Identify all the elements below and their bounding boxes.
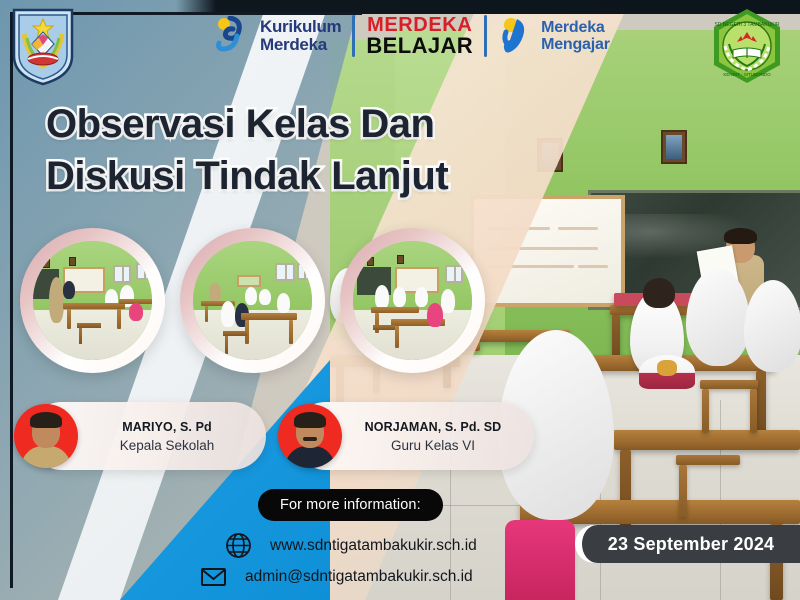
merdeka-mengajar-label: Merdeka Mengajar xyxy=(541,19,610,53)
avatar xyxy=(278,404,342,468)
title-line-1: Observasi Kelas Dan xyxy=(46,98,606,150)
person-card-teacher: NORJAMAN, S. Pd. SD Guru Kelas VI xyxy=(292,402,534,470)
contact-row-website[interactable]: www.sdntigatambakukir.sch.id xyxy=(225,532,477,559)
classroom-photo-circle-3 xyxy=(340,228,485,373)
classroom-photo-circle-1 xyxy=(20,228,165,373)
kurikulum-merdeka-icon xyxy=(215,16,249,56)
logo-divider xyxy=(484,15,487,57)
more-information-chip: For more information: xyxy=(258,489,443,521)
projector-screen xyxy=(470,195,625,307)
svg-text:KENDIT - SITUBONDO: KENDIT - SITUBONDO xyxy=(723,72,771,77)
merdeka-belajar-line2: BELAJAR xyxy=(366,33,473,58)
person-role: Guru Kelas VI xyxy=(348,438,518,453)
logo-divider xyxy=(352,15,355,57)
red-white-cap xyxy=(639,355,695,389)
email-address: admin@sdntigatambakukir.sch.id xyxy=(245,568,473,586)
wall-portrait-icon xyxy=(661,130,687,164)
globe-icon xyxy=(225,532,252,559)
poster-canvas: Kurikulum Merdeka MERDEKA BELAJAR Merdek… xyxy=(0,0,800,600)
avatar xyxy=(14,404,78,468)
date-badge: 23 September 2024 xyxy=(578,525,800,563)
kurikulum-line1: Kurikulum xyxy=(260,17,341,36)
page-title: Observasi Kelas Dan Diskusi Tindak Lanju… xyxy=(46,98,606,202)
person-role: Kepala Sekolah xyxy=(84,438,250,453)
mengajar-line2: Mengajar xyxy=(541,36,610,53)
student-figure xyxy=(744,280,800,372)
svg-text:SD NEGERI 3 TAMBAKUKIR: SD NEGERI 3 TAMBAKUKIR xyxy=(714,22,779,28)
person-card-principal: MARIYO, S. Pd Kepala Sekolah xyxy=(28,402,266,470)
kurikulum-merdeka-label: Kurikulum Merdeka xyxy=(260,18,341,54)
person-name: MARIYO, S. Pd xyxy=(84,420,250,434)
title-line-2: Diskusi Tindak Lanjut xyxy=(46,150,606,202)
school-emblem-logo: SD NEGERI 3 TAMBAKUKIR KENDIT - SITUBOND… xyxy=(709,6,785,86)
website-url: www.sdntigatambakukir.sch.id xyxy=(270,537,477,555)
classroom-photo-circle-2 xyxy=(180,228,325,373)
kurikulum-line2: Merdeka xyxy=(260,35,327,54)
regency-emblem-logo xyxy=(8,4,78,88)
merdeka-mengajar-icon xyxy=(498,16,530,56)
mengajar-line1: Merdeka xyxy=(541,19,605,36)
person-name: NORJAMAN, S. Pd. SD xyxy=(348,420,518,434)
contact-row-email[interactable]: admin@sdntigatambakukir.sch.id xyxy=(200,563,473,590)
envelope-icon xyxy=(200,563,227,590)
partner-logo-strip: Kurikulum Merdeka MERDEKA BELAJAR Merdek… xyxy=(215,8,610,64)
merdeka-belajar-label: MERDEKA BELAJAR xyxy=(366,15,473,57)
